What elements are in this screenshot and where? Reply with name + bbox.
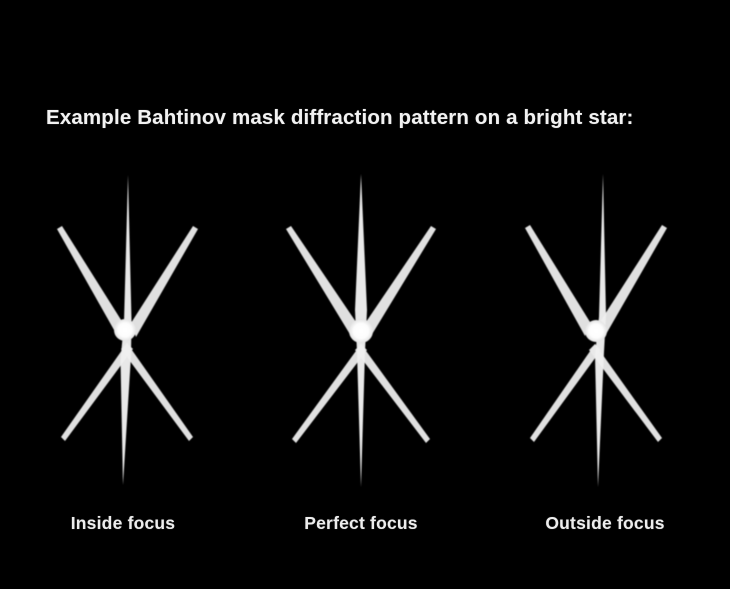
spike-diagonal-b [366,226,436,336]
star-core [114,319,136,341]
diffraction-figure: Example Bahtinov mask diffraction patter… [0,0,730,589]
spike-diagonal-b [131,226,198,337]
spike-diagonal-a [57,226,123,337]
spike-diagonal-a2 [121,343,193,441]
pattern-perfect-focus [246,160,476,500]
residual-text-artifact [44,66,514,92]
caption-inside-focus: Inside focus [8,513,238,534]
star-core [349,319,373,343]
caption-outside-focus: Outside focus [490,513,720,534]
pattern-inside-focus [10,160,240,500]
caption-perfect-focus: Perfect focus [246,513,476,534]
spike-diagonal-b2 [530,344,601,442]
spike-diagonal-b [600,225,667,336]
spike-diagonal-b2 [292,344,367,443]
pattern-outside-focus [482,160,712,500]
spike-diagonal-a [525,225,590,336]
star-core [585,320,607,342]
spike-diagonal-a2 [355,344,430,443]
spike-diagonal-a [286,226,356,336]
page-title: Example Bahtinov mask diffraction patter… [46,106,634,130]
